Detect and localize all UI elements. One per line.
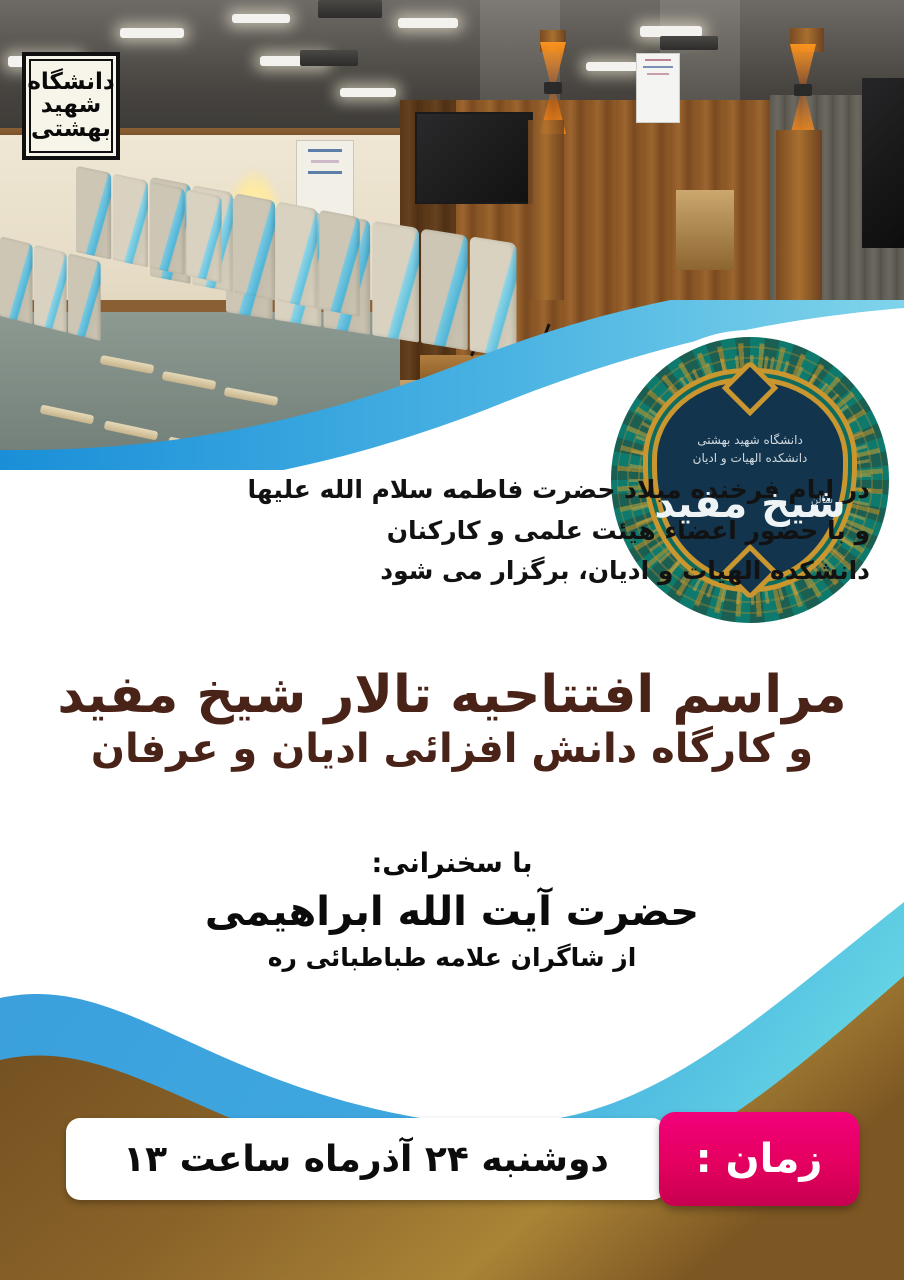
emblem-hall-word: سالن: [811, 495, 833, 506]
title-line-2: و کارگاه دانش افزائی ادیان و عرفان: [0, 727, 904, 771]
emblem-university: دانشگاه شهید بهشتی: [697, 433, 803, 447]
bottom-wave-divider: [0, 880, 904, 1280]
ceiling-light: [586, 62, 638, 71]
emblem-faculty: دانشکده الهیات و ادیان: [693, 451, 808, 465]
wall-notice: [636, 53, 680, 123]
ceiling-light: [340, 88, 396, 97]
ceiling-vent: [318, 0, 382, 18]
ceiling-light: [232, 14, 290, 23]
podium: [676, 190, 734, 270]
hall-emblem: دانشگاه شهید بهشتی دانشکده الهیات و ادیا…: [604, 330, 896, 630]
ceiling-vent: [300, 50, 358, 66]
speaker-label: با سخنرانی:: [0, 848, 904, 879]
event-time-bar: دوشنبه ۲۴ آذرماه ساعت ۱۳: [66, 1118, 666, 1200]
time-label-badge: زمان :: [659, 1112, 859, 1206]
university-logo: دانشگاه شهید بهشتی: [22, 52, 120, 160]
side-tv-screen: [862, 78, 904, 248]
university-logo-text: دانشگاه شهید بهشتی: [29, 59, 113, 153]
time-label-text: زمان :: [696, 1136, 823, 1182]
ceiling-light: [120, 28, 184, 38]
wall-sconce: [786, 44, 820, 136]
ceiling-light: [398, 18, 458, 28]
title-line-1: مراسم افتتاحیه تالار شیخ مفید: [0, 668, 904, 723]
page-title: مراسم افتتاحیه تالار شیخ مفید و کارگاه د…: [0, 668, 904, 771]
event-poster: دانشگاه شهید بهشتی دانشگاه شهید بهشتی دا…: [0, 0, 904, 1280]
event-time-value: دوشنبه ۲۴ آذرماه ساعت ۱۳: [123, 1139, 609, 1180]
ceiling-vent: [660, 36, 718, 50]
